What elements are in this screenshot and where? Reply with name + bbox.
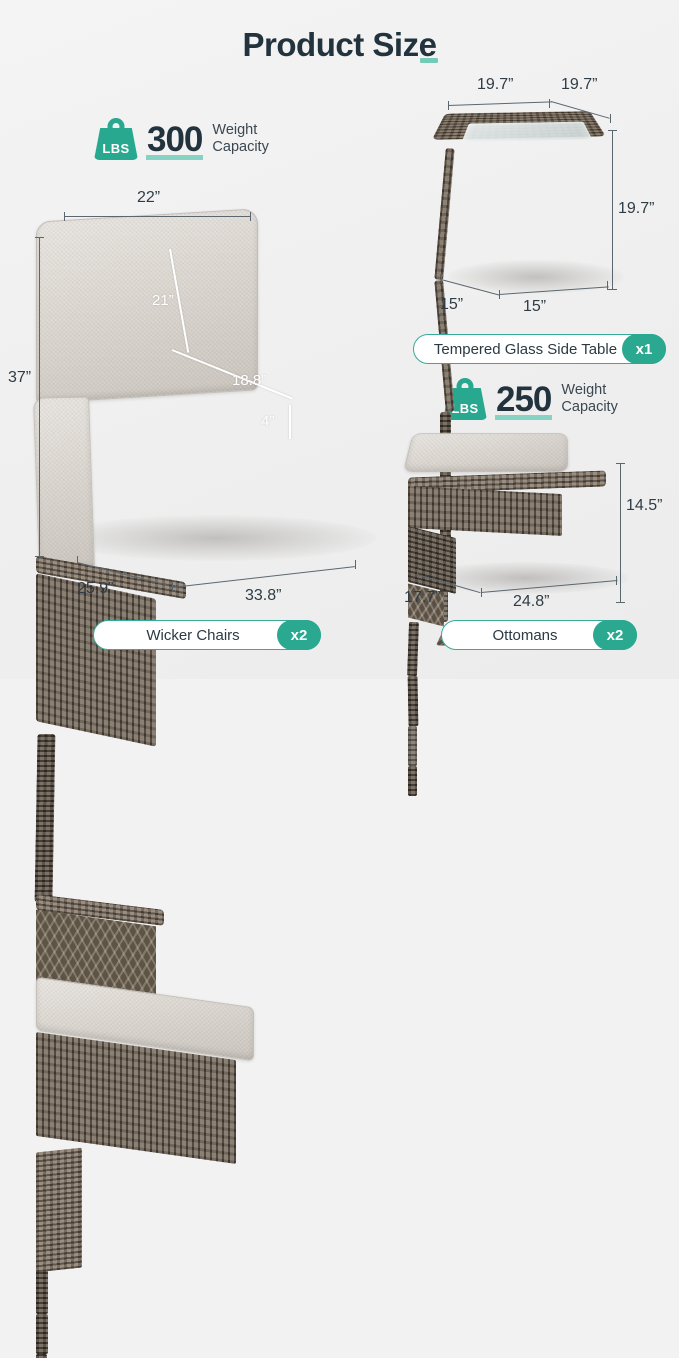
ottoman-height-line [620,463,621,603]
chair-seat-depth-value: 18.8” [232,372,266,389]
chair-back-cushion [36,208,258,404]
chair-width-line [64,216,251,217]
ottoman-width-tick-right [616,576,617,585]
chair-height-value: 37” [8,369,31,387]
ottoman-illustration [408,430,638,590]
page-title: Product Size [0,26,679,64]
table-base-left-value: 15” [440,296,463,314]
weight-caption-line1: Weight [561,382,617,399]
chair-leg-front-right [36,1314,48,1354]
table-top-left-tick [448,101,449,110]
chair-right-body-panel [36,1148,82,1273]
table-height-line [612,130,613,290]
product-label-side-table[interactable]: Tempered Glass Side Table x1 [413,334,666,364]
weight-icon: LBS [94,118,138,160]
product-count-badge: x2 [277,620,321,650]
weight-capacity-value: 300 [147,122,202,157]
table-glass-top [462,122,592,142]
chair-back-cushion-left [33,397,95,570]
table-leg-front-left [434,148,454,280]
table-base-right-value: 15” [523,298,546,316]
chair-left-front-post [35,734,56,902]
chair-width-tick-left [64,212,65,221]
chair-depth-tick [77,556,78,565]
chair-cushion-thickness-line [289,405,291,439]
chair-leg-back-left [36,1354,47,1358]
chair-cushion-thickness-value: 4” [261,413,274,430]
wicker-chair-illustration [36,215,386,575]
weight-capacity-caption: Weight Capacity [212,122,268,155]
table-base-mid-tick [499,290,500,299]
chair-floor-shadow [56,515,376,561]
weight-capacity-value: 250 [496,382,551,417]
ottoman-depth-tick [417,569,418,578]
ottoman-width-value: 24.8” [513,593,549,611]
chair-height-tick-bottom [35,556,44,557]
chair-depth-value: 25.9” [77,580,113,598]
ottoman-leg-center [408,726,417,766]
table-height-tick-top [608,130,617,131]
table-top-right-value: 19.7” [561,76,597,94]
ottoman-leg-front-left [407,622,419,676]
weight-icon-label: LBS [94,141,138,156]
side-table-illustration [440,100,630,290]
chair-height-line [39,237,40,557]
product-label-wicker-chairs[interactable]: Wicker Chairs x2 [93,620,321,650]
ottoman-leg-back-left [408,766,417,796]
product-label-ottomans[interactable]: Ottomans x2 [441,620,637,650]
chair-overall-width-value: 33.8” [245,587,281,605]
chair-height-tick-top [35,237,44,238]
weight-caption-line2: Capacity [561,399,617,416]
ottoman-height-tick-bottom [616,602,625,603]
chair-width-base-tick-left [172,582,173,591]
product-label-text: Wicker Chairs [134,627,279,644]
ottoman-height-tick-top [616,463,625,464]
product-label-text: Ottomans [480,627,597,644]
page-title-text: Product Si [243,26,403,63]
weight-capacity-caption: Weight Capacity [561,382,617,415]
chair-leg-front-left [36,1270,48,1314]
table-height-value: 19.7” [618,200,654,218]
chair-width-top-value: 22” [137,189,160,207]
ottoman-depth-value: 17.7” [404,589,440,607]
weight-caption-line1: Weight [212,122,268,139]
table-base-right-tick [607,281,608,290]
table-top-mid-tick [549,99,550,108]
weight-badge-ottoman: LBS 250 Weight Capacity [443,378,618,420]
infographic-canvas: Product Size LBS 300 Weight Capacity LBS… [0,0,679,679]
ottoman-height-value: 14.5” [626,497,662,515]
product-count-badge: x2 [593,620,637,650]
table-top-left-value: 19.7” [477,76,513,94]
chair-width-tick-right [250,212,251,221]
ottoman-leg-front-right [408,676,419,726]
chair-back-cushion-height-value: 21” [152,292,174,309]
ottoman-width-tick-left [481,588,482,597]
table-base-left-tick [441,274,442,283]
ottoman-front-panel [408,486,562,536]
table-top-right-tick [610,114,611,123]
product-count-badge: x1 [622,334,666,364]
page-title-underlined: ze [403,26,437,64]
chair-width-base-tick-right [355,560,356,569]
table-height-tick-bottom [608,289,617,290]
ottoman-cushion [403,433,568,472]
weight-badge-chair: LBS 300 Weight Capacity [94,118,269,160]
chair-left-side-panel [36,573,156,747]
weight-caption-line2: Capacity [212,139,268,156]
